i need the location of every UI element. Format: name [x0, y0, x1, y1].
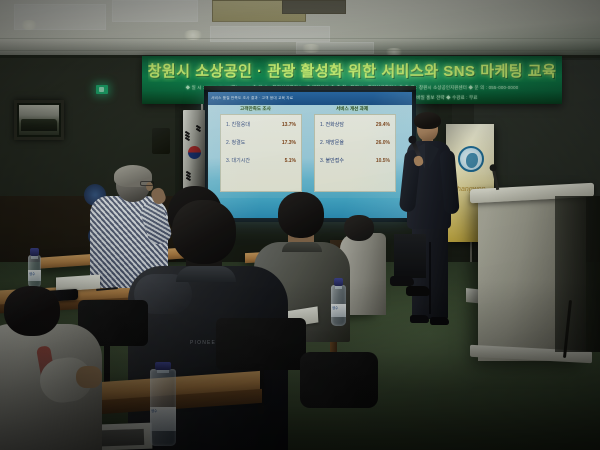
- bottle-label-text: 생수: [151, 408, 157, 413]
- lectern-side-shadow: [555, 196, 600, 352]
- attendee-feet-right: [390, 268, 430, 302]
- bottle-label: 생수: [150, 407, 176, 431]
- seminar-room-photo: 창원시 소상공인 · 관광 활성화 위한 서비스와 SNS 마케팅 교육 ◆ 일…: [0, 0, 600, 450]
- slide-header: 서비스 품질 만족도 조사 결과 · 고객 응대 교육 자료: [208, 92, 412, 105]
- bottle-cap: [334, 278, 344, 286]
- ceiling-seam: [0, 38, 600, 39]
- attendee-head: [172, 200, 236, 264]
- slide-row-label: 1. 전화상담: [320, 121, 344, 128]
- slide-row-label: 3. 대기시간: [226, 157, 250, 164]
- slide-row-value: 29.4%: [376, 122, 390, 128]
- slide-row-value: 13.7%: [282, 122, 296, 128]
- exit-sign-icon: [96, 85, 108, 94]
- bottle-label-text: 생수: [29, 271, 35, 276]
- chair[interactable]: [216, 318, 306, 370]
- bottle-cap: [155, 362, 172, 370]
- chair[interactable]: [300, 352, 378, 408]
- presenter-shoe: [410, 315, 429, 323]
- eyeglasses-icon: [140, 181, 154, 186]
- slide-row: 1. 전화상담 29.4%: [320, 121, 390, 128]
- attendee-white-shirt-front: [0, 286, 116, 450]
- slide-row-label: 3. 불만접수: [320, 157, 344, 164]
- ceiling-light: [20, 20, 38, 30]
- slide-row-label: 1. 친절응대: [226, 121, 250, 128]
- attendee-shoe: [390, 276, 414, 286]
- picture-artwork: [19, 105, 59, 135]
- attendee-shoe: [406, 286, 430, 296]
- slide-row: 2. 재방문율 26.0%: [320, 139, 390, 146]
- slide-column-title-left: 고객만족도 조사: [240, 106, 271, 112]
- slide-row: 3. 불만접수 10.5%: [320, 157, 390, 164]
- bottle-cap: [30, 248, 38, 256]
- water-bottle-center: 생수: [331, 278, 346, 326]
- slide-row-value: 26.0%: [376, 140, 390, 146]
- slide-box-right: 1. 전화상담 29.4% 2. 재방문율 26.0% 3. 불만접수 10.5…: [314, 114, 396, 192]
- presenter-shoe: [430, 317, 449, 325]
- ceiling-vent: [282, 0, 346, 14]
- attendee-collar: [176, 266, 236, 282]
- attendee-head: [4, 286, 60, 336]
- slide-row-value: 10.5%: [376, 158, 390, 164]
- framed-wall-picture: [14, 100, 64, 140]
- wall-speaker: [152, 128, 170, 154]
- water-bottle-foreground: 생수: [150, 362, 176, 446]
- banner-title: 창원시 소상공인 · 관광 활성화 위한 서비스와 SNS 마케팅 교육: [148, 58, 556, 82]
- water-bottle-left-rear: 생수: [28, 248, 41, 288]
- slide-row-value: 5.1%: [285, 158, 296, 164]
- slide-row-label: 2. 청결도: [226, 139, 245, 146]
- ceiling-panel: [112, 0, 198, 22]
- bottle-label: 생수: [331, 304, 346, 317]
- slide-row: 1. 친절응대 13.7%: [226, 121, 296, 128]
- bottle-label: 생수: [28, 270, 41, 281]
- slide-box-left: 1. 친절응대 13.7% 2. 청결도 17.3% 3. 대기시간 5.1%: [220, 114, 302, 192]
- slide-row: 2. 청결도 17.3%: [226, 139, 296, 146]
- slide-row: 3. 대기시간 5.1%: [226, 157, 296, 164]
- slide-row-value: 17.3%: [282, 140, 296, 146]
- bottle-label-text: 생수: [332, 305, 338, 310]
- slide-column-title-right: 서비스 개선 과제: [336, 106, 368, 112]
- attendee-hand: [76, 366, 102, 388]
- presenter-hair: [414, 112, 441, 129]
- attendee-trousers: [394, 234, 426, 278]
- slide-row-label: 2. 재방문율: [320, 139, 344, 146]
